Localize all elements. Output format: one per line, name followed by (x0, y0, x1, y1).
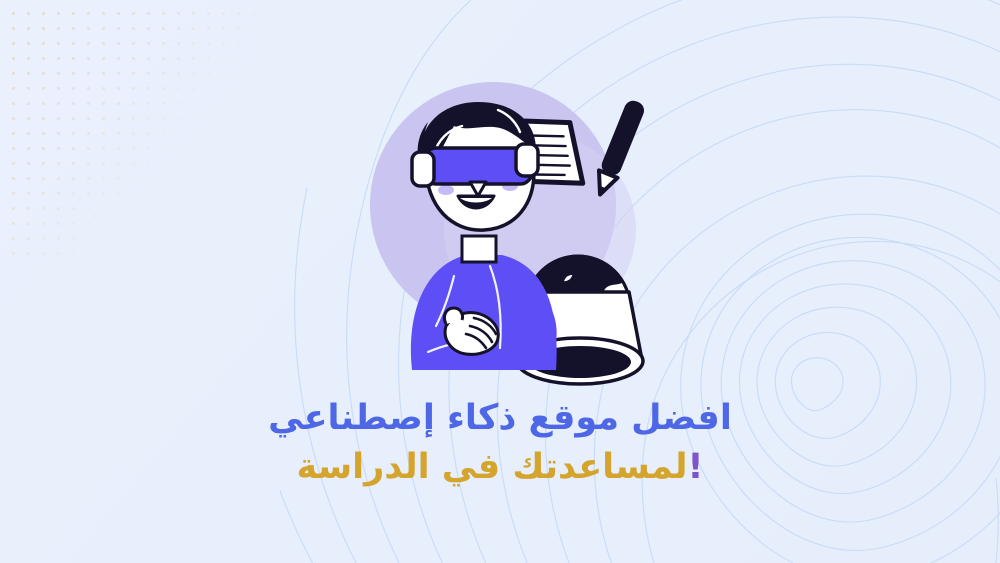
exclamation-mark: ! (688, 447, 704, 487)
headline-line-1: افضل موقع ذكاء إصطناعي (0, 396, 1000, 441)
headline-line-2-text: لمساعدتك في الدراسة (296, 447, 687, 487)
student-vr-learning-illustration (350, 70, 670, 370)
banner-canvas: افضل موقع ذكاء إصطناعي !لمساعدتك في الدر… (0, 0, 1000, 563)
dot-pattern-decoration (0, 0, 300, 260)
headline-line-2: !لمساعدتك في الدراسة (0, 445, 1000, 490)
headline-block: افضل موقع ذكاء إصطناعي !لمساعدتك في الدر… (0, 396, 1000, 490)
